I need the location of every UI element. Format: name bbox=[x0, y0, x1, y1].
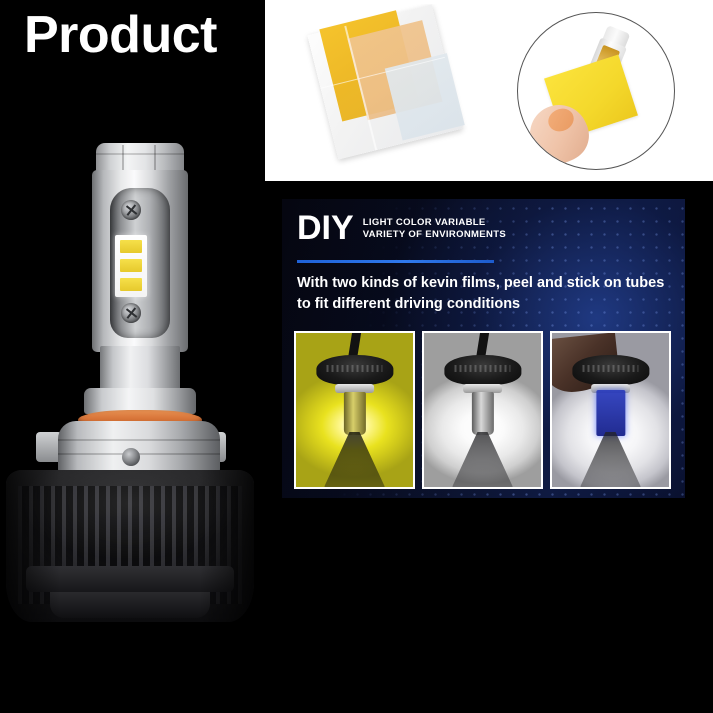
bulb-heatsink bbox=[6, 470, 254, 622]
bulb-shaft bbox=[343, 392, 365, 435]
bulb-heatsink-top bbox=[572, 355, 649, 386]
demo-white-beam-image bbox=[424, 333, 541, 487]
page-title: Product bbox=[24, 8, 217, 63]
kevin-film-sheets-photo bbox=[285, 4, 490, 176]
accent-divider bbox=[297, 260, 494, 263]
bulb-shaft bbox=[471, 392, 493, 435]
heatsink-shading bbox=[6, 470, 254, 622]
led-chip bbox=[115, 235, 147, 297]
diy-info-panel: DIY LIGHT COLOR VARIABLE VARIETY OF ENVI… bbox=[282, 199, 685, 498]
light-beam-shadow bbox=[324, 432, 385, 487]
demo-yellow-beam-image bbox=[296, 333, 413, 487]
led-headlight-bulb bbox=[0, 140, 262, 635]
diy-description-line-2: to fit different driving conditions bbox=[297, 294, 667, 315]
bulb-heatsink-top bbox=[316, 355, 393, 386]
led-phosphor-3 bbox=[120, 278, 142, 291]
diy-subheading-line-1: LIGHT COLOR VARIABLE bbox=[363, 217, 506, 229]
heatsink-notch-right bbox=[198, 258, 214, 292]
film-application-photo bbox=[493, 4, 693, 181]
led-phosphor-2 bbox=[120, 259, 142, 272]
diy-header: DIY LIGHT COLOR VARIABLE VARIETY OF ENVI… bbox=[297, 213, 506, 244]
bulb-mounting-flange bbox=[58, 421, 220, 477]
diy-description-line-1: With two kinds of kevin films, peel and … bbox=[297, 273, 667, 294]
demo-blue-film-hand bbox=[550, 331, 671, 489]
diy-heading: DIY bbox=[297, 213, 354, 244]
circle-frame bbox=[517, 12, 675, 170]
demo-blue-film-image bbox=[552, 333, 669, 487]
diy-description: With two kinds of kevin films, peel and … bbox=[297, 273, 667, 315]
bulb-neck bbox=[100, 346, 180, 394]
blue-film-on-tube bbox=[596, 390, 625, 436]
top-white-band bbox=[265, 0, 713, 181]
demo-photo-row bbox=[294, 331, 672, 493]
heatsink-notch-left bbox=[34, 258, 50, 292]
light-beam-shadow bbox=[580, 432, 641, 487]
product-image-canvas: Product bbox=[0, 0, 713, 713]
light-beam-shadow bbox=[452, 432, 513, 487]
film-sheet-stack bbox=[307, 4, 462, 159]
led-phosphor-1 bbox=[120, 240, 142, 253]
bulb-screw-top bbox=[121, 200, 141, 220]
diy-subheading-line-2: VARIETY OF ENVIRONMENTS bbox=[363, 229, 506, 241]
diy-subheading: LIGHT COLOR VARIABLE VARIETY OF ENVIRONM… bbox=[363, 217, 506, 244]
bulb-screw-bottom bbox=[121, 303, 141, 323]
flange-screw bbox=[122, 448, 140, 466]
demo-yellow-beam bbox=[294, 331, 415, 489]
demo-white-beam bbox=[422, 331, 543, 489]
bulb-heatsink-top bbox=[444, 355, 521, 386]
